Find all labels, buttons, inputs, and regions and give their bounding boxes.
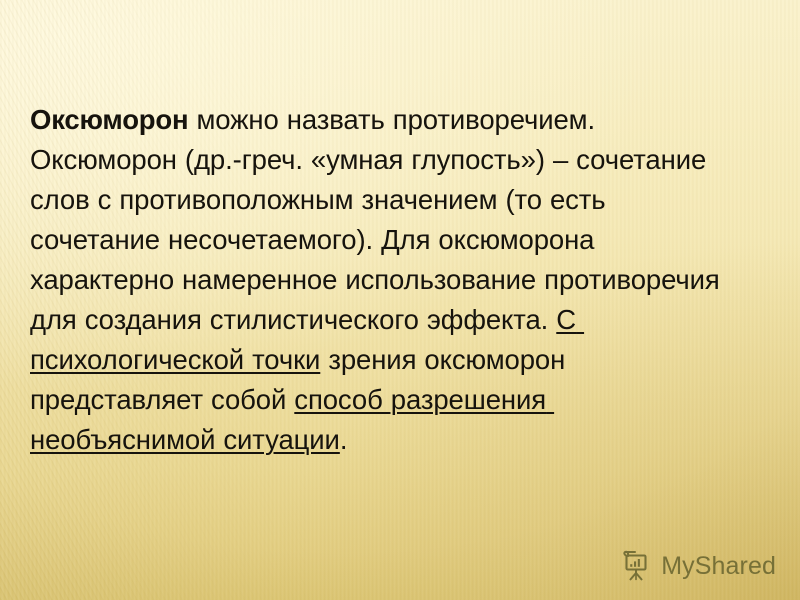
paragraph-segment-1: можно назвать противоречием. Оксюморон (… [30,104,728,335]
myshared-watermark: MyShared [620,550,776,582]
presentation-chart-icon [620,550,652,582]
myshared-wordmark: MyShared [661,554,776,579]
slide-canvas: Оксюморон можно назвать противоречием. О… [0,0,800,600]
paragraph-segment-0: Оксюморон [30,104,188,135]
paragraph-segment-5: . [340,424,348,455]
slide-body-paragraph: Оксюморон можно назвать противоречием. О… [30,100,730,460]
